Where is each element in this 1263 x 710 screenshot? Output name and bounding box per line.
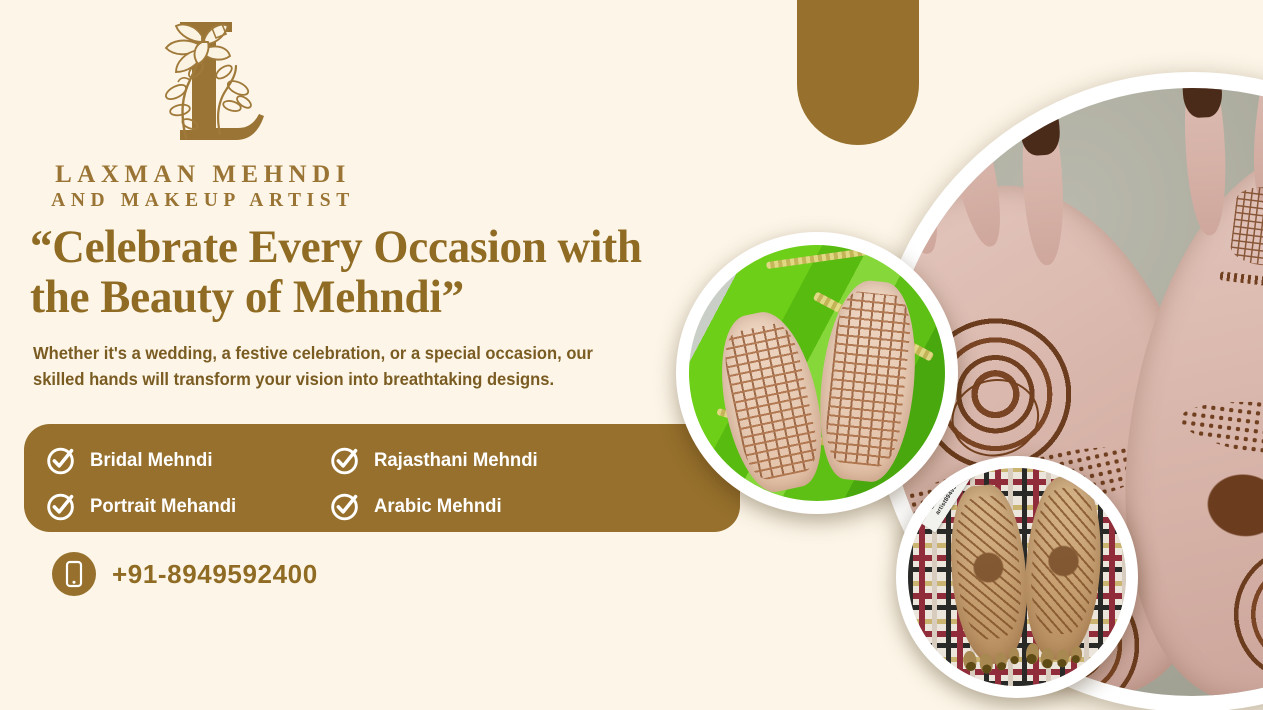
brand-name-line2: AND MAKEUP ARTIST: [28, 189, 378, 212]
service-item-arabic-mehndi[interactable]: Arabic Mehndi: [330, 491, 706, 522]
services-bar: Bridal Mehndi Rajasthani Mehndi Portrait…: [24, 424, 740, 532]
henna-feet-artwork: Laxman mehndi artist8949592400: [908, 468, 1126, 686]
promo-banner: Laxman mehndi artist8949592400: [0, 0, 1263, 710]
service-label: Bridal Mehndi: [90, 449, 212, 472]
green-saree-artwork: [689, 245, 945, 501]
mobile-phone-icon: [52, 552, 96, 596]
service-label: Portrait Mehandi: [90, 495, 236, 518]
service-item-portrait-mehandi[interactable]: Portrait Mehandi: [46, 491, 330, 522]
brand-name-line1: LAXMAN MEHNDI: [28, 160, 378, 189]
check-circle-icon: [46, 445, 77, 476]
check-circle-icon: [46, 491, 77, 522]
photo-henna-feet-on-plaid-cloth: Laxman mehndi artist8949592400: [896, 456, 1138, 698]
check-circle-icon: [330, 491, 361, 522]
service-item-rajasthani-mehndi[interactable]: Rajasthani Mehndi: [330, 445, 706, 476]
phone-number: +91-8949592400: [112, 559, 318, 590]
service-label: Rajasthani Mehndi: [374, 449, 538, 472]
hero-subtitle: Whether it's a wedding, a festive celebr…: [33, 340, 635, 392]
contact-phone[interactable]: +91-8949592400: [52, 552, 318, 596]
check-circle-icon: [330, 445, 361, 476]
brand-logo: LAXMAN MEHNDI AND MAKEUP ARTIST: [28, 10, 378, 212]
floral-letter-l-monogram-icon: [128, 10, 278, 160]
service-item-bridal-mehndi[interactable]: Bridal Mehndi: [46, 445, 330, 476]
page-title: “Celebrate Every Occasion with the Beaut…: [30, 222, 702, 323]
service-label: Arabic Mehndi: [374, 495, 502, 518]
